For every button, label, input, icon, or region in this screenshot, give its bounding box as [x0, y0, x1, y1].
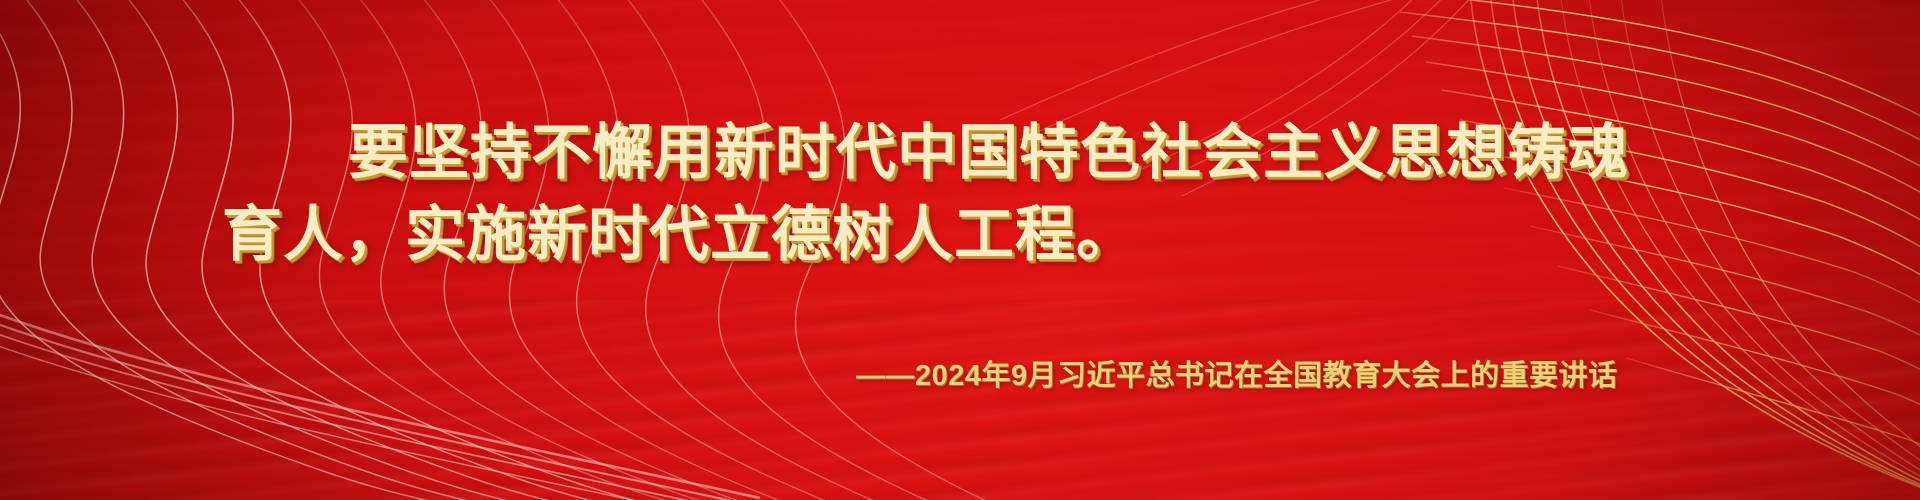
- background-lower-sheen-texture: [0, 300, 1920, 500]
- attribution-text: ——2024年9月习近平总书记在全国教育大会上的重要讲话: [856, 352, 1618, 394]
- propaganda-banner: 要坚持不懈用新时代中国特色社会主义思想铸魂 育人，实施新时代立德树人工程。 ——…: [0, 0, 1920, 500]
- quote-line-1: 要坚持不懈用新时代中国特色社会主义思想铸魂: [348, 104, 1629, 191]
- quote-line-2: 育人，实施新时代立德树人工程。: [222, 186, 1137, 273]
